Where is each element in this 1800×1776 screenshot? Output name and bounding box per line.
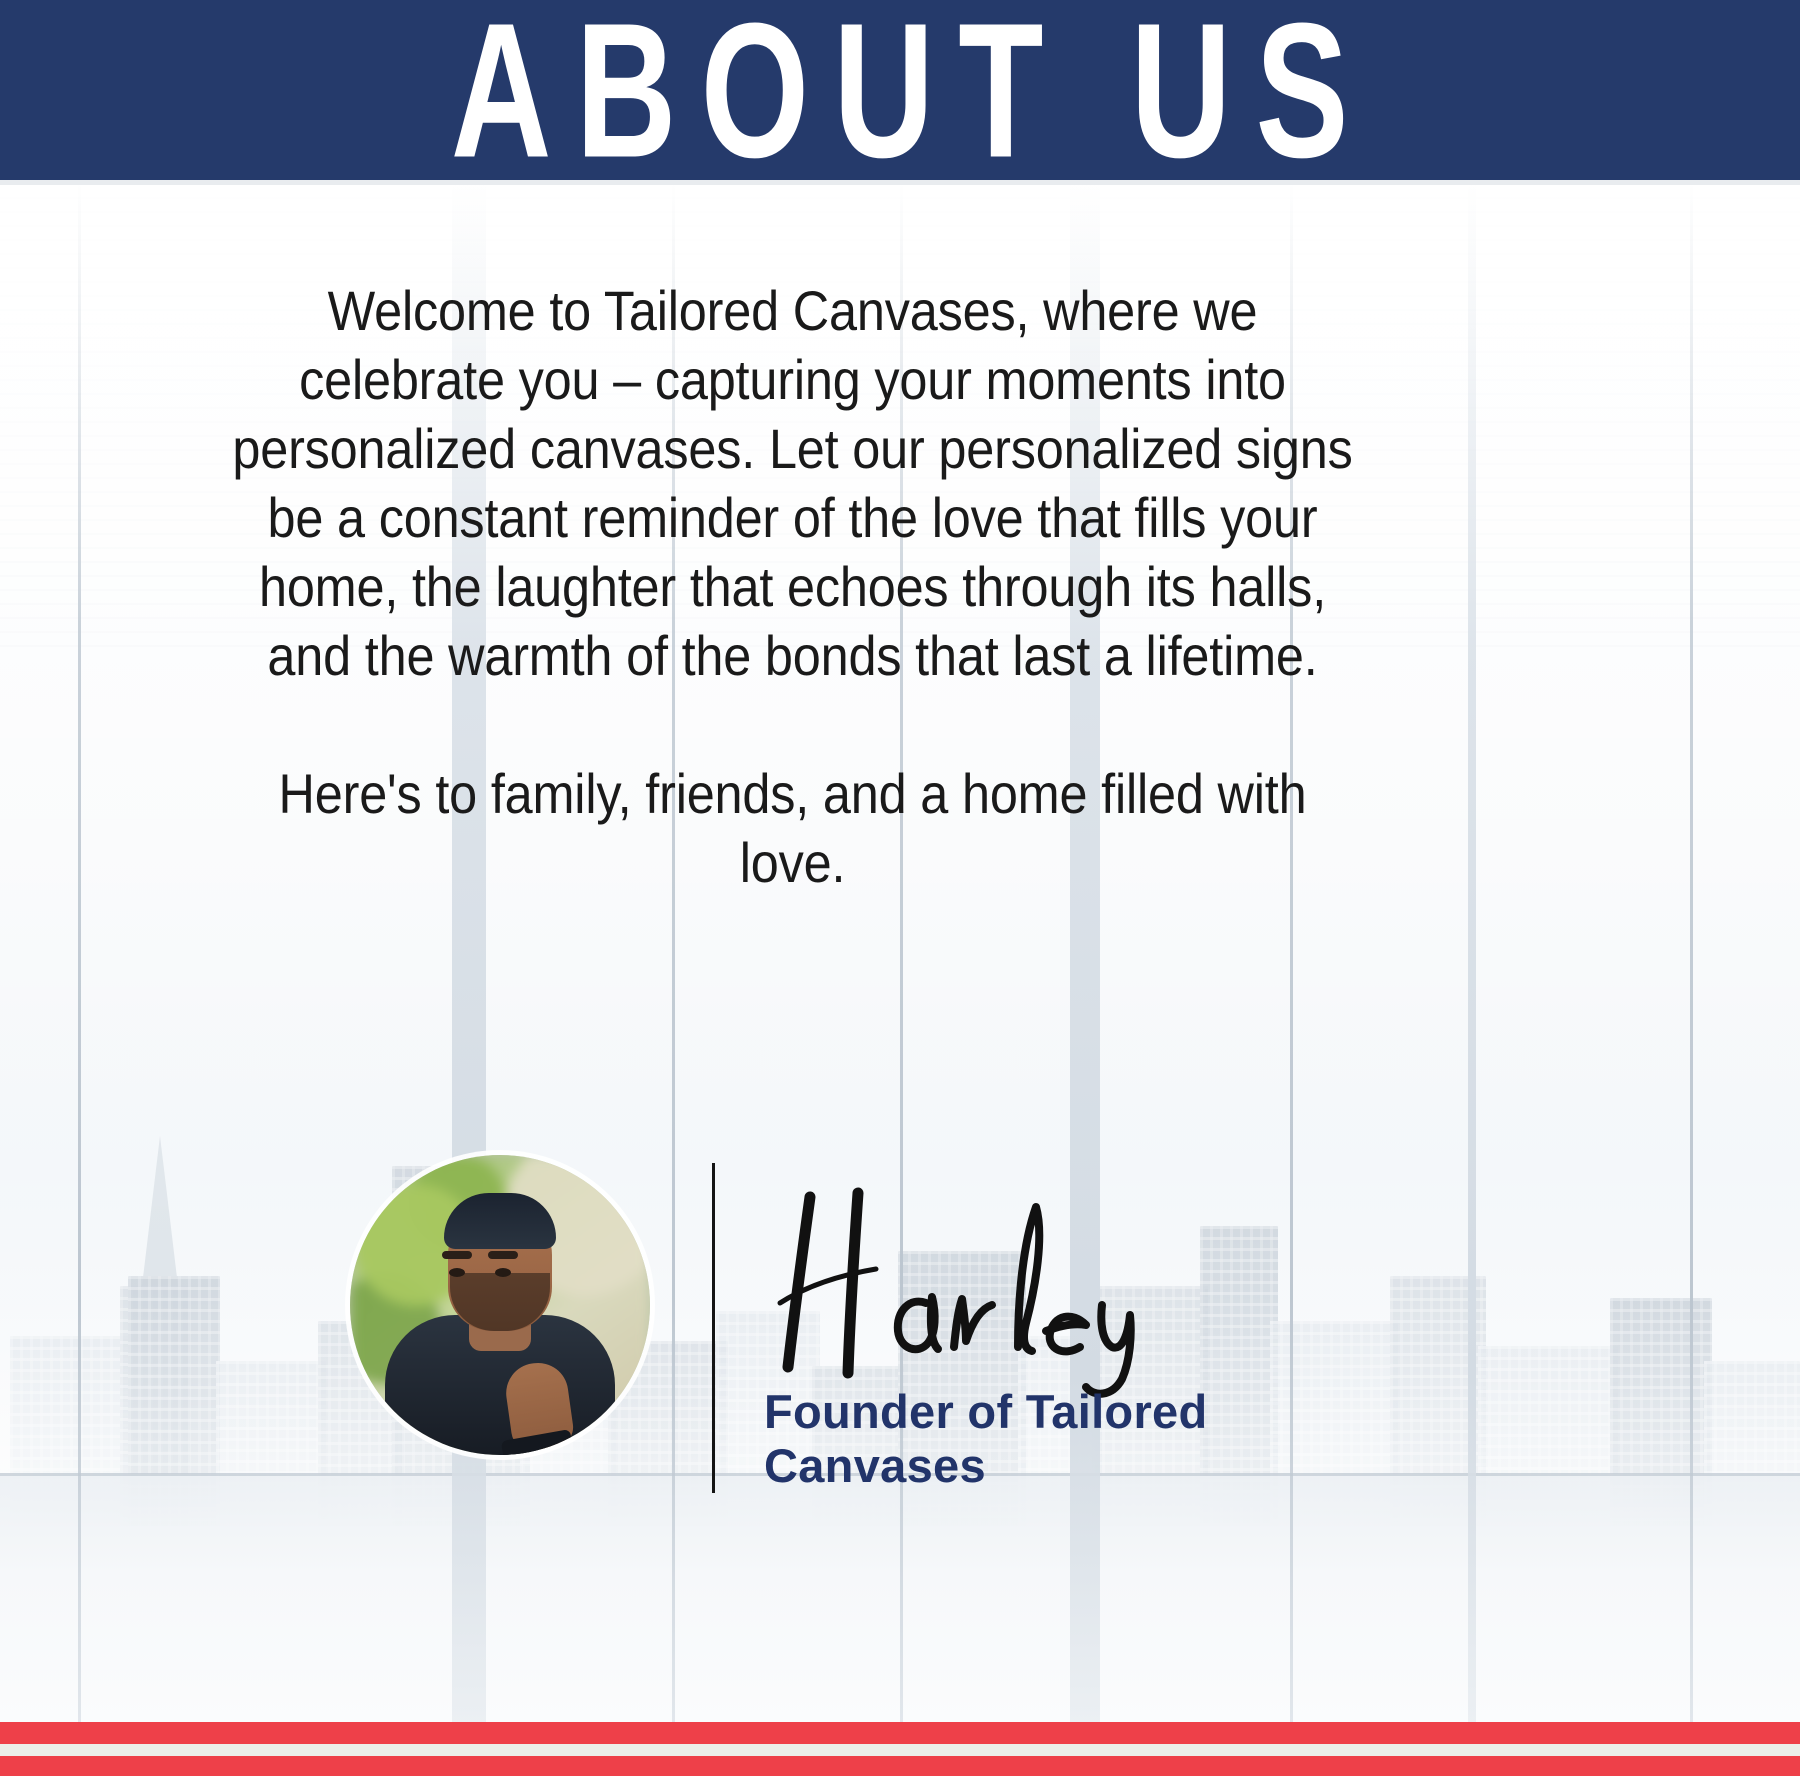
founder-role-line-2: Canvases [764, 1439, 1404, 1493]
footer-stripe-top [0, 1722, 1800, 1744]
page-header-banner: ABOUT US [0, 0, 1800, 180]
founder-role: Founder of Tailored Canvases [764, 1385, 1404, 1493]
handwritten-signature [750, 1135, 1250, 1395]
banner-underline-divider [0, 180, 1800, 185]
footer-stripe-bottom [0, 1756, 1800, 1776]
about-us-poster: ABOUT US Welcome to Tailored Canvases, w… [0, 0, 1800, 1776]
about-paragraph-2: Here's to family, friends, and a home fi… [232, 759, 1353, 897]
footer-stripe-gap [0, 1744, 1800, 1756]
founder-avatar [350, 1155, 650, 1455]
signature-block: Founder of Tailored Canvases [350, 1145, 1470, 1505]
page-title: ABOUT US [427, 0, 1373, 186]
signature-divider-rule [712, 1163, 715, 1493]
about-copy: Welcome to Tailored Canvases, where we c… [232, 276, 1353, 897]
signature-icon [750, 1135, 1250, 1395]
founder-role-line-1: Founder of Tailored [764, 1385, 1404, 1439]
about-paragraph-1: Welcome to Tailored Canvases, where we c… [232, 276, 1353, 690]
avatar-person [390, 1225, 610, 1455]
